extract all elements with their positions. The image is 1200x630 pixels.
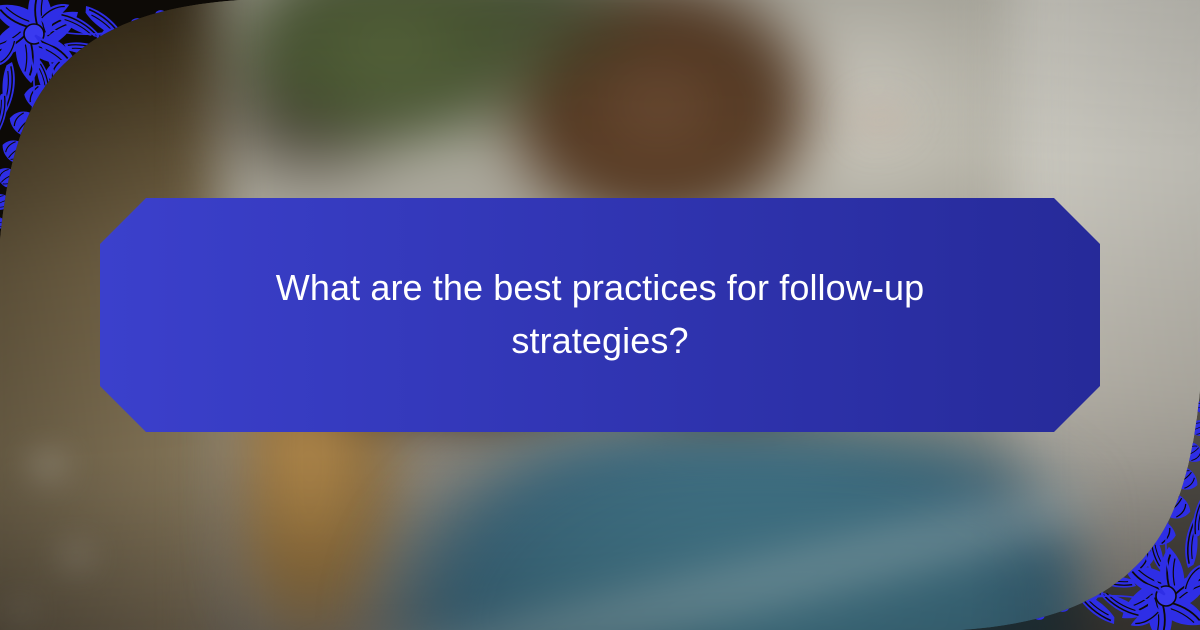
question-text: What are the best practices for follow-u… bbox=[250, 262, 950, 368]
share-card: What are the best practices for follow-u… bbox=[0, 0, 1200, 630]
question-banner: What are the best practices for follow-u… bbox=[100, 198, 1100, 432]
